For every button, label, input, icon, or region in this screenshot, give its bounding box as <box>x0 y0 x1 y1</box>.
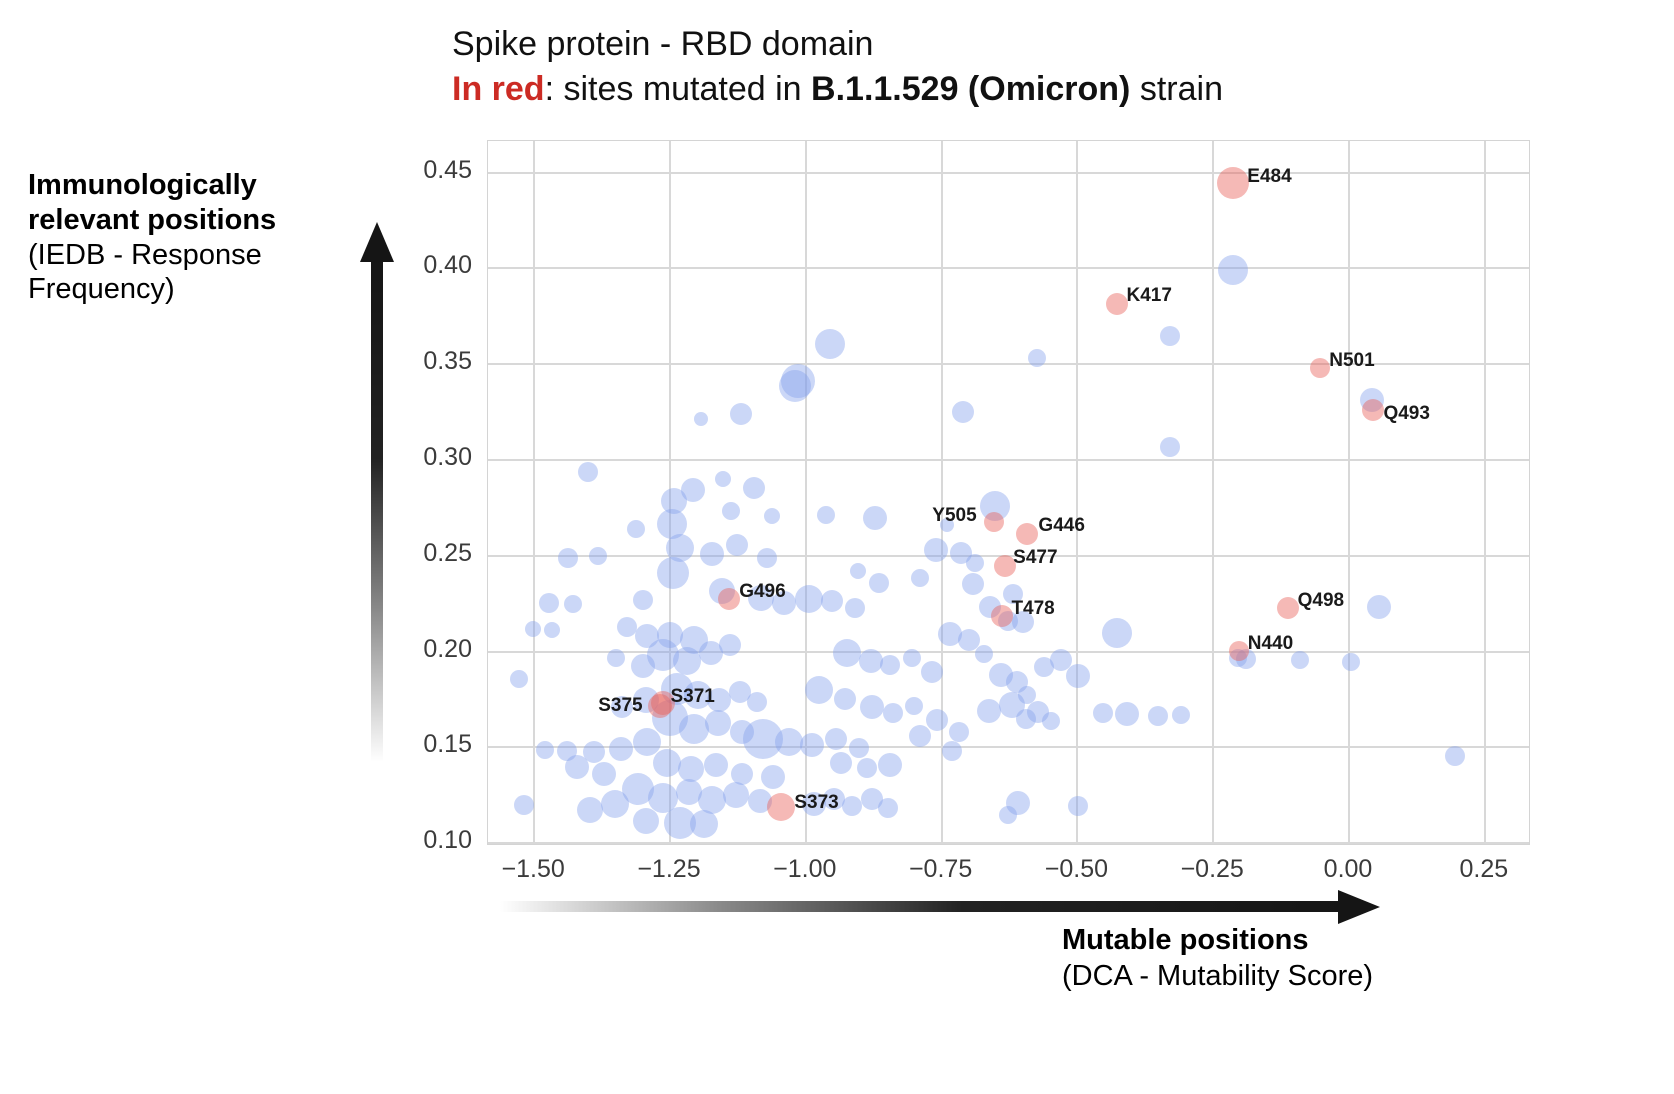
x-axis-caption-bold: Mutable positions <box>1062 922 1662 958</box>
point-label-S375: S375 <box>598 696 642 715</box>
x-tick-label: 0.25 <box>1459 855 1508 884</box>
y-axis-caption: Immunologically relevant positions (IEDB… <box>28 168 358 307</box>
x-tick-label: −1.50 <box>502 855 565 884</box>
y-tick-label: 0.10 <box>423 826 472 855</box>
y-tick-label: 0.40 <box>423 251 472 280</box>
x-tick-label: 0.00 <box>1324 855 1373 884</box>
title-mid-text: : sites mutated in <box>545 70 811 108</box>
point-label-T478: T478 <box>1011 599 1054 618</box>
point-label-Q498: Q498 <box>1298 591 1344 610</box>
point-label-layer: E484K417N501Q493Y505G446S477T478Q498N440… <box>488 141 1529 844</box>
y-tick-label: 0.45 <box>423 156 472 185</box>
y-tick-label: 0.20 <box>423 635 472 664</box>
point-label-N501: N501 <box>1329 351 1374 370</box>
point-label-G446: G446 <box>1038 516 1084 535</box>
point-label-S371: S371 <box>670 687 714 706</box>
x-tick-label: −1.00 <box>773 855 836 884</box>
strain-name-text: B.1.1.529 (Omicron) <box>811 70 1130 108</box>
point-label-S373: S373 <box>794 793 838 812</box>
x-tick-label: −0.75 <box>909 855 972 884</box>
chart-title-block: Spike protein - RBD domain In red: sites… <box>452 22 1512 112</box>
y-tick-label: 0.35 <box>423 347 472 376</box>
point-label-Y505: Y505 <box>932 506 976 525</box>
x-axis-arrow-icon <box>500 890 1380 924</box>
point-label-N440: N440 <box>1248 634 1293 653</box>
y-tick-label: 0.15 <box>423 730 472 759</box>
point-label-Q493: Q493 <box>1383 404 1429 423</box>
y-axis-caption-plain: (IEDB - Response Frequency) <box>28 238 358 308</box>
point-label-E484: E484 <box>1247 167 1291 186</box>
point-label-S477: S477 <box>1013 548 1057 567</box>
x-tick-label: −0.25 <box>1181 855 1244 884</box>
title-end-text: strain <box>1130 70 1223 108</box>
y-axis-tick-labels: 0.450.400.350.300.250.200.150.10 <box>380 0 472 1094</box>
x-axis-tick-labels: −1.50−1.25−1.00−0.75−0.50−0.250.000.25 <box>0 855 1674 895</box>
point-label-K417: K417 <box>1127 286 1172 305</box>
x-axis-caption: Mutable positions (DCA - Mutability Scor… <box>1062 922 1662 995</box>
title-line-1: Spike protein - RBD domain <box>452 22 1512 67</box>
x-axis-caption-plain: (DCA - Mutability Score) <box>1062 958 1662 994</box>
title-line-2: In red: sites mutated in B.1.1.529 (Omic… <box>452 67 1512 112</box>
scatter-plot-area: E484K417N501Q493Y505G446S477T478Q498N440… <box>487 140 1530 845</box>
x-tick-label: −1.25 <box>637 855 700 884</box>
point-label-G496: G496 <box>739 582 785 601</box>
y-axis-caption-bold: Immunologically relevant positions <box>28 168 358 238</box>
y-tick-label: 0.30 <box>423 443 472 472</box>
x-tick-label: −0.50 <box>1045 855 1108 884</box>
y-tick-label: 0.25 <box>423 539 472 568</box>
